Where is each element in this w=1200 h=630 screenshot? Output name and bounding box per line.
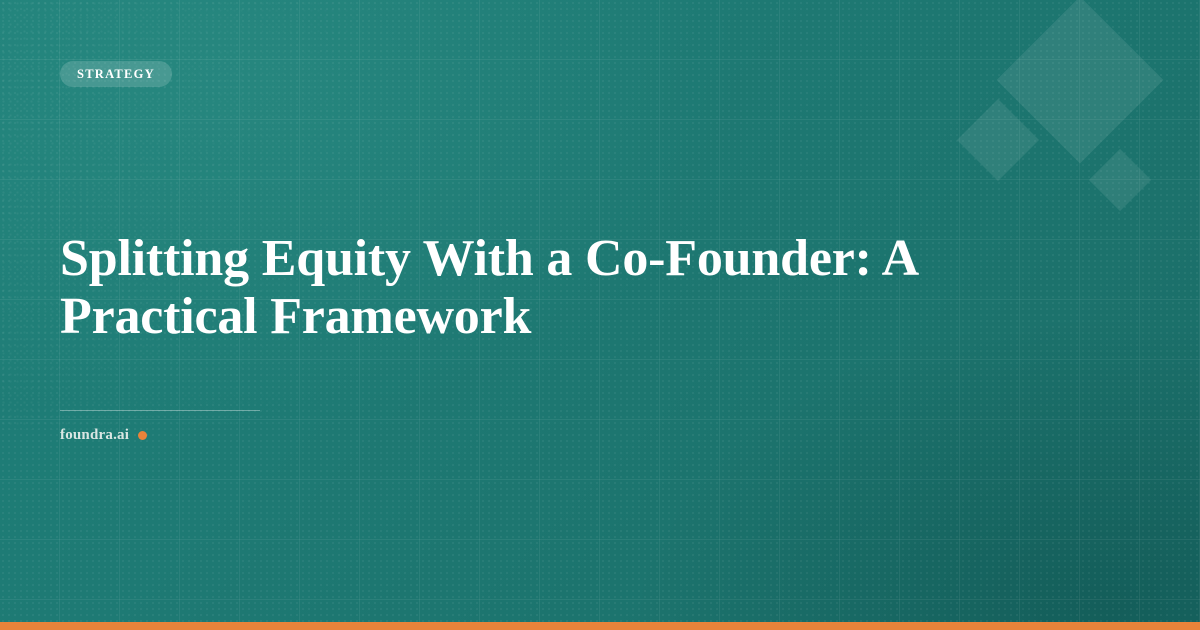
page-title: Splitting Equity With a Co-Founder: A Pr… [60, 230, 1010, 346]
divider [60, 410, 260, 411]
card-footer: foundra.ai [60, 428, 147, 443]
social-card: STRATEGY Splitting Equity With a Co-Foun… [0, 0, 1200, 630]
accent-bar [0, 622, 1200, 630]
category-badge: STRATEGY [60, 61, 172, 87]
brand-name: foundra.ai [60, 428, 129, 443]
brand-dot-icon [138, 431, 147, 440]
card-content: STRATEGY Splitting Equity With a Co-Foun… [0, 0, 1200, 630]
